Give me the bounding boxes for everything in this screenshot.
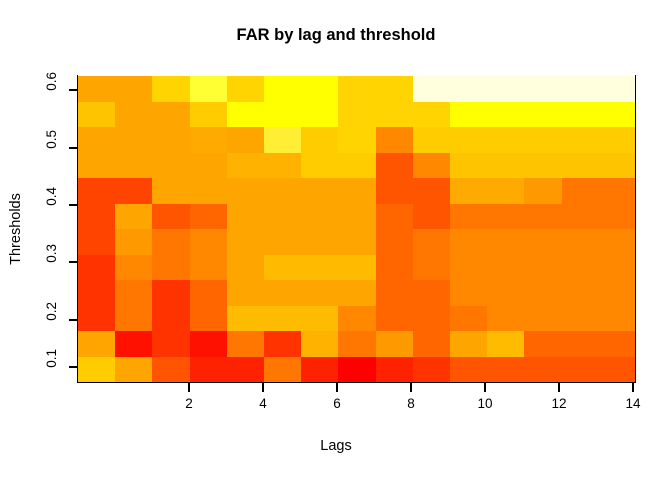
heatmap-cell — [450, 102, 487, 128]
heatmap-cell — [487, 255, 524, 281]
y-axis-tick-label: 0.6 — [44, 72, 59, 91]
y-axis-tick — [69, 147, 78, 148]
heatmap-cell — [413, 280, 450, 306]
heatmap-cell — [78, 229, 115, 255]
heatmap-cell — [376, 204, 413, 230]
heatmap-cell — [599, 178, 636, 204]
heatmap-cell — [487, 204, 524, 230]
heatmap-cell — [78, 178, 115, 204]
x-axis-tick — [484, 383, 485, 392]
heatmap-cell — [376, 178, 413, 204]
heatmap-cell — [301, 331, 338, 357]
heatmap-cell — [487, 229, 524, 255]
heatmap-cell — [338, 255, 375, 281]
heatmap-cell — [152, 178, 189, 204]
x-axis-tick-label: 8 — [407, 396, 415, 411]
heatmap-cell — [487, 178, 524, 204]
heatmap-cell — [264, 102, 301, 128]
heatmap-cell — [376, 280, 413, 306]
x-axis-tick-label: 6 — [333, 396, 341, 411]
heatmap-cell — [450, 306, 487, 332]
heatmap-cell — [264, 229, 301, 255]
heatmap-cell — [190, 357, 227, 383]
heatmap-cell — [264, 331, 301, 357]
heatmap-cell — [338, 76, 375, 102]
heatmap-cell — [562, 127, 599, 153]
heatmap-cell — [413, 331, 450, 357]
heatmap-cell — [338, 204, 375, 230]
heatmap-cell — [227, 178, 264, 204]
heatmap-cell — [376, 76, 413, 102]
heatmap-cell — [115, 255, 152, 281]
heatmap-cell — [301, 153, 338, 179]
heatmap-cell — [115, 76, 152, 102]
heatmap-cell — [413, 153, 450, 179]
heatmap-cell — [487, 76, 524, 102]
heatmap-cell — [524, 178, 561, 204]
heatmap-cell — [450, 331, 487, 357]
heatmap-cell — [152, 127, 189, 153]
heatmap-cell — [227, 127, 264, 153]
heatmap-cell — [413, 76, 450, 102]
heatmap-cell — [562, 178, 599, 204]
heatmap-cell — [227, 204, 264, 230]
heatmap-cell — [301, 127, 338, 153]
heatmap-cell — [264, 280, 301, 306]
heatmap-cell — [599, 153, 636, 179]
heatmap-cell — [78, 204, 115, 230]
heatmap-cell — [524, 255, 561, 281]
heatmap-cell — [376, 102, 413, 128]
heatmap-cell — [152, 204, 189, 230]
x-axis-tick — [336, 383, 337, 392]
x-axis-tick — [262, 383, 263, 392]
heatmap-cell — [115, 102, 152, 128]
heatmap-cell — [599, 357, 636, 383]
heatmap-cell — [599, 331, 636, 357]
heatmap-cell — [227, 331, 264, 357]
heatmap-cell — [376, 331, 413, 357]
heatmap-cell — [524, 76, 561, 102]
heatmap-cell — [227, 229, 264, 255]
heatmap-cell — [524, 204, 561, 230]
x-axis-tick — [558, 383, 559, 392]
y-axis-tick — [69, 366, 78, 367]
heatmap-cell — [338, 229, 375, 255]
heatmap-cell — [115, 357, 152, 383]
heatmap-cell — [599, 102, 636, 128]
heatmap-cell — [190, 153, 227, 179]
heatmap-cell — [450, 255, 487, 281]
heatmap-cell — [301, 102, 338, 128]
heatmap-cell — [524, 153, 561, 179]
heatmap-cell — [524, 357, 561, 383]
heatmap-cell — [227, 255, 264, 281]
heatmap-cell — [301, 255, 338, 281]
heatmap-cell — [78, 280, 115, 306]
heatmap-cell — [227, 357, 264, 383]
heatmap-cell — [301, 204, 338, 230]
heatmap-cell — [376, 306, 413, 332]
heatmap-cell — [264, 127, 301, 153]
heatmap-cell — [115, 280, 152, 306]
heatmap-plot-area[interactable] — [78, 76, 636, 382]
heatmap-cell — [524, 306, 561, 332]
heatmap-cell — [338, 280, 375, 306]
heatmap-cell — [450, 229, 487, 255]
heatmap-cell — [152, 102, 189, 128]
heatmap-cell — [264, 153, 301, 179]
heatmap-cell — [413, 204, 450, 230]
heatmap-cell — [450, 153, 487, 179]
heatmap-cell — [301, 306, 338, 332]
plot-right-border — [635, 75, 636, 383]
heatmap-cell — [264, 255, 301, 281]
heatmap-cell — [227, 153, 264, 179]
heatmap-cell — [190, 255, 227, 281]
heatmap-cell — [487, 306, 524, 332]
heatmap-cell — [376, 357, 413, 383]
heatmap-cell — [152, 280, 189, 306]
heatmap-cell — [78, 102, 115, 128]
heatmap-cell — [524, 229, 561, 255]
heatmap-cell — [264, 178, 301, 204]
heatmap-cell — [376, 153, 413, 179]
heatmap-cell — [301, 357, 338, 383]
y-axis-tick-label: 0.4 — [44, 187, 59, 206]
heatmap-cell — [190, 204, 227, 230]
heatmap-cell — [338, 153, 375, 179]
heatmap-cell — [264, 204, 301, 230]
heatmap-cell — [338, 102, 375, 128]
heatmap-cell — [487, 357, 524, 383]
heatmap-cell — [78, 76, 115, 102]
heatmap-cell — [78, 127, 115, 153]
heatmap-cell — [115, 229, 152, 255]
heatmap-cell — [115, 153, 152, 179]
y-axis-line — [77, 75, 78, 383]
y-axis-tick — [69, 261, 78, 262]
heatmap-cell — [152, 331, 189, 357]
heatmap-cell — [264, 76, 301, 102]
heatmap-cell — [190, 178, 227, 204]
heatmap-cell — [599, 204, 636, 230]
heatmap-cell — [599, 76, 636, 102]
heatmap-cell — [413, 102, 450, 128]
heatmap-cell — [190, 76, 227, 102]
heatmap-cell — [450, 76, 487, 102]
heatmap-cell — [115, 127, 152, 153]
heatmap-cell — [227, 280, 264, 306]
heatmap-cell — [264, 357, 301, 383]
heatmap-cell — [301, 280, 338, 306]
heatmap-cell — [562, 204, 599, 230]
chart-title: FAR by lag and threshold — [0, 26, 672, 45]
y-axis-tick — [69, 319, 78, 320]
heatmap-cell — [190, 280, 227, 306]
heatmap-cell — [338, 127, 375, 153]
heatmap-cell — [78, 255, 115, 281]
heatmap-cell — [78, 331, 115, 357]
y-axis-tick-label: 0.2 — [44, 302, 59, 321]
heatmap-cell — [562, 229, 599, 255]
heatmap-cell — [562, 76, 599, 102]
y-axis-tick-label: 0.5 — [44, 130, 59, 149]
heatmap-cell — [487, 280, 524, 306]
x-axis-tick — [188, 383, 189, 392]
heatmap-cell — [413, 178, 450, 204]
heatmap-cell — [376, 229, 413, 255]
heatmap-cell — [301, 76, 338, 102]
y-axis-tick-label: 0.1 — [44, 349, 59, 368]
heatmap-cell — [413, 255, 450, 281]
heatmap-cell — [413, 229, 450, 255]
heatmap-cell — [487, 102, 524, 128]
heatmap-cell — [152, 229, 189, 255]
heatmap-cell — [450, 204, 487, 230]
heatmap-cell — [376, 255, 413, 281]
heatmap-cell — [227, 306, 264, 332]
heatmap-cell — [115, 204, 152, 230]
x-axis-tick — [410, 383, 411, 392]
heatmap-cell — [450, 178, 487, 204]
heatmap-cell — [190, 102, 227, 128]
heatmap-cell — [562, 102, 599, 128]
x-axis-tick-label: 2 — [185, 396, 193, 411]
x-axis-title: Lags — [0, 438, 672, 454]
y-axis-tick-label: 0.3 — [44, 244, 59, 263]
x-axis-line — [77, 382, 636, 383]
x-axis-tick-label: 12 — [551, 396, 566, 411]
heatmap-cell — [450, 357, 487, 383]
heatmap-cell — [227, 76, 264, 102]
heatmap-cell — [413, 357, 450, 383]
chart-root: FAR by lag and threshold 0.10.20.30.40.5… — [0, 0, 672, 480]
heatmap-cell — [338, 331, 375, 357]
heatmap-cell — [599, 306, 636, 332]
heatmap-cell — [338, 178, 375, 204]
heatmap-cell — [152, 255, 189, 281]
y-axis-tick — [69, 89, 78, 90]
heatmap-cell — [115, 178, 152, 204]
heatmap-cell — [152, 357, 189, 383]
heatmap-cell — [524, 280, 561, 306]
heatmap-cell — [487, 153, 524, 179]
heatmap-cell — [413, 127, 450, 153]
heatmap-cell — [524, 331, 561, 357]
heatmap-cell — [450, 280, 487, 306]
x-axis-tick-label: 4 — [259, 396, 267, 411]
heatmap-cell — [562, 153, 599, 179]
heatmap-cell — [190, 331, 227, 357]
heatmap-cell — [599, 280, 636, 306]
heatmap-cell — [376, 127, 413, 153]
heatmap-cell — [524, 127, 561, 153]
heatmap-cell — [338, 357, 375, 383]
heatmap-cell — [152, 306, 189, 332]
heatmap-cell — [301, 178, 338, 204]
heatmap-cell — [413, 306, 450, 332]
x-axis-tick-label: 14 — [625, 396, 640, 411]
heatmap-cell — [450, 127, 487, 153]
heatmap-cell — [78, 153, 115, 179]
heatmap-cell — [599, 255, 636, 281]
heatmap-cell — [487, 127, 524, 153]
heatmap-cell — [78, 357, 115, 383]
x-axis-tick — [632, 383, 633, 392]
heatmap-cell — [190, 229, 227, 255]
heatmap-cell — [599, 127, 636, 153]
heatmap-cell — [264, 306, 301, 332]
heatmap-cell — [227, 102, 264, 128]
heatmap-cell — [562, 280, 599, 306]
heatmap-cell — [115, 306, 152, 332]
heatmap-cell — [487, 331, 524, 357]
heatmap-cell — [152, 76, 189, 102]
heatmap-cell — [115, 331, 152, 357]
y-axis-title: Thresholds — [8, 193, 24, 265]
heatmap-cell — [562, 255, 599, 281]
heatmap-cell — [599, 229, 636, 255]
heatmap-grid — [78, 76, 636, 382]
x-axis-tick-label: 10 — [477, 396, 492, 411]
heatmap-cell — [562, 306, 599, 332]
heatmap-cell — [562, 331, 599, 357]
heatmap-cell — [190, 127, 227, 153]
heatmap-cell — [190, 306, 227, 332]
heatmap-cell — [152, 153, 189, 179]
heatmap-cell — [78, 306, 115, 332]
heatmap-cell — [338, 306, 375, 332]
heatmap-cell — [562, 357, 599, 383]
y-axis-tick — [69, 204, 78, 205]
heatmap-cell — [524, 102, 561, 128]
heatmap-cell — [301, 229, 338, 255]
